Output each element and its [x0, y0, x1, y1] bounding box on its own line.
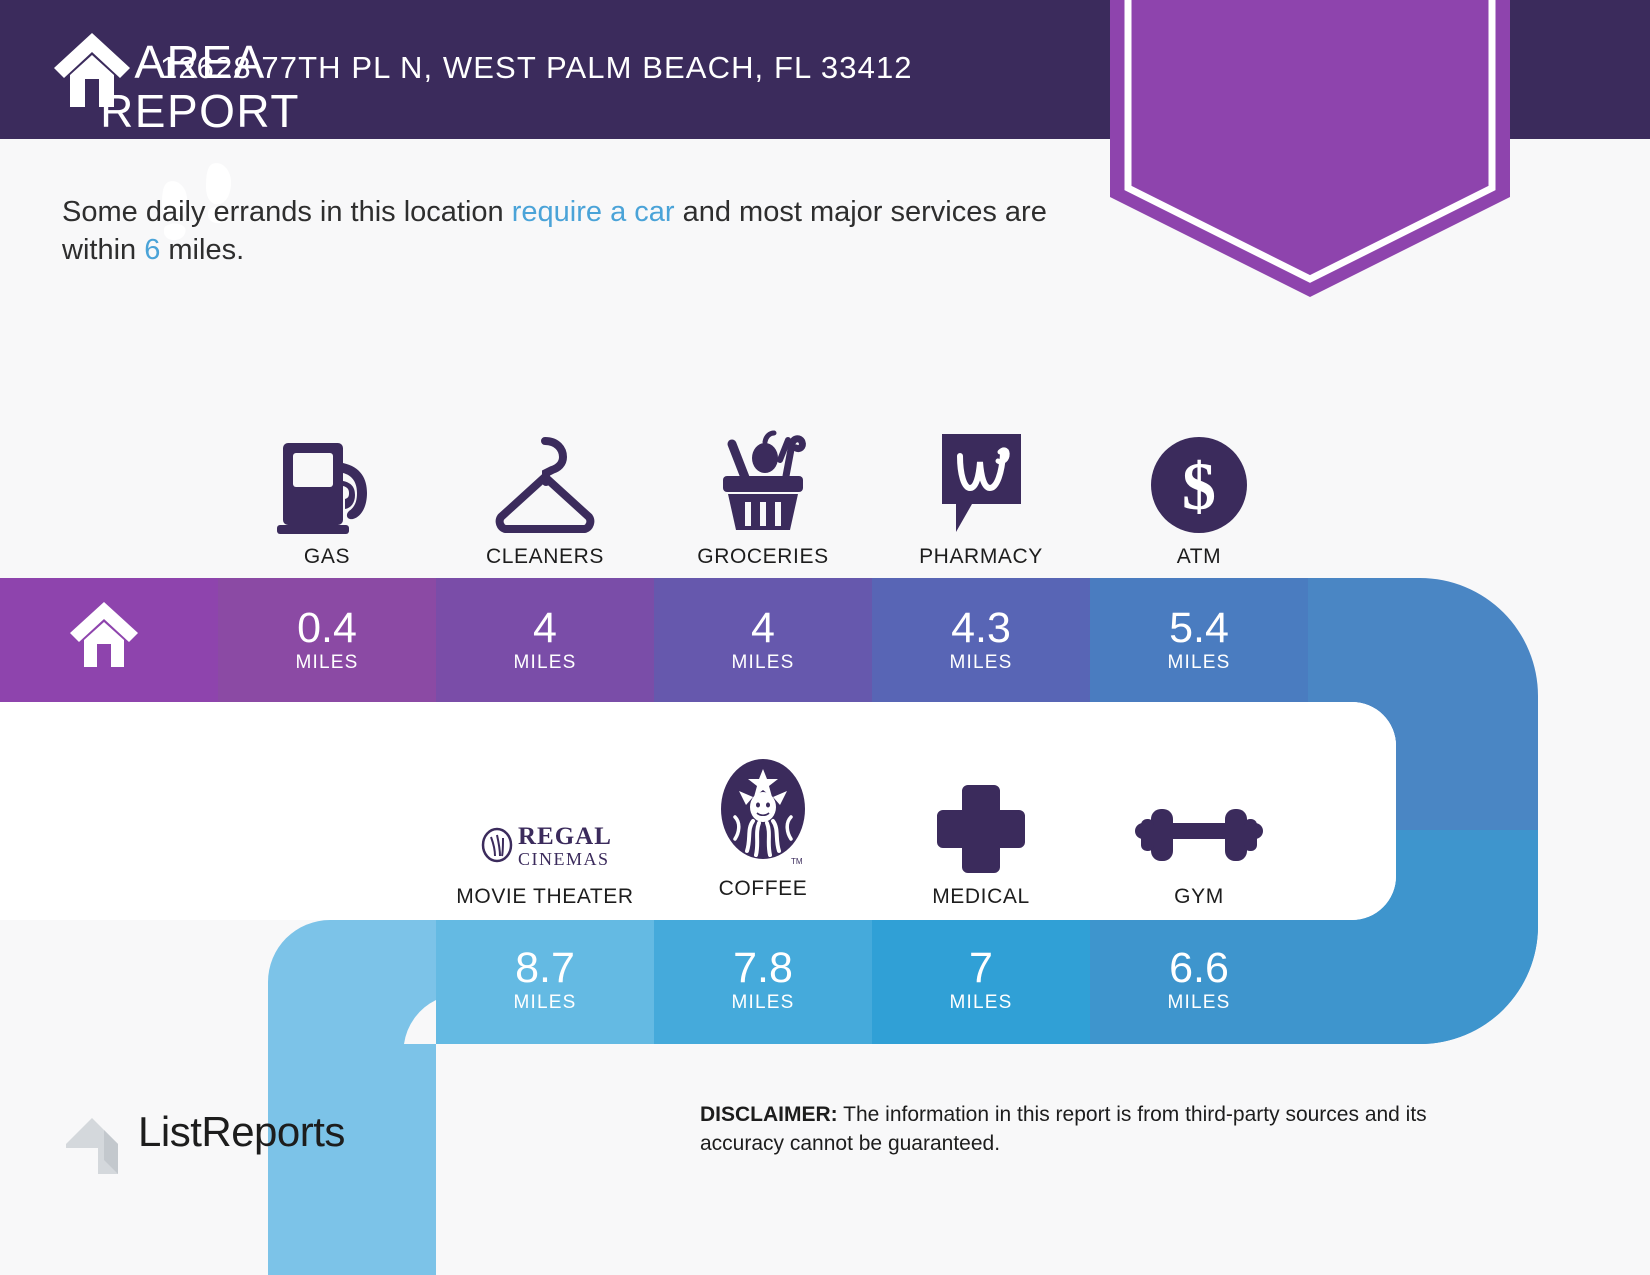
starbucks-icon: TM	[654, 752, 872, 867]
value-number: 4	[654, 605, 872, 651]
value-number: 4.3	[872, 605, 1090, 651]
value-unit: MILES	[436, 992, 654, 1014]
gas-pump-icon	[218, 420, 436, 535]
value-number: 7.8	[654, 945, 872, 991]
value-cell-pharmacy: 4.3 MILES	[872, 605, 1090, 674]
value-unit: MILES	[872, 992, 1090, 1014]
value-cell-gym: 6.6 MILES	[1090, 945, 1308, 1014]
icon-label: MOVIE THEATER	[436, 885, 654, 909]
value-number: 4	[436, 605, 654, 651]
value-number: 7	[872, 945, 1090, 991]
value-cell-medical: 7 MILES	[872, 945, 1090, 1014]
value-unit: MILES	[654, 652, 872, 674]
value-number: 0.4	[218, 605, 436, 651]
value-number: 5.4	[1090, 605, 1308, 651]
icon-cell-groceries: GROCERIES	[654, 420, 872, 569]
medical-cross-icon	[872, 760, 1090, 875]
value-number: 8.7	[436, 945, 654, 991]
value-cell-coffee: 7.8 MILES	[654, 945, 872, 1014]
value-cell-atm: 5.4 MILES	[1090, 605, 1308, 674]
value-unit: MILES	[1090, 992, 1308, 1014]
listreports-wordmark: ListReports	[138, 1108, 345, 1156]
value-unit: MILES	[1090, 652, 1308, 674]
icon-cell-gym: GYM	[1090, 760, 1308, 909]
icon-cell-gas: GAS	[218, 420, 436, 569]
home-icon	[68, 600, 140, 668]
dollar-icon: $	[1090, 420, 1308, 535]
icon-label: MEDICAL	[872, 885, 1090, 909]
svg-text:$: $	[1182, 448, 1216, 524]
icon-label: COFFEE	[654, 877, 872, 901]
dumbbell-icon	[1090, 760, 1308, 875]
value-cell-gas: 0.4 MILES	[218, 605, 436, 674]
icon-label: ATM	[1090, 545, 1308, 569]
icon-label: GAS	[218, 545, 436, 569]
value-cell-groceries: 4 MILES	[654, 605, 872, 674]
value-number: 6.6	[1090, 945, 1308, 991]
value-cell-movie-theater: 8.7 MILES	[436, 945, 654, 1014]
icon-cell-pharmacy: PHARMACY	[872, 420, 1090, 569]
basket-icon	[654, 420, 872, 535]
hanger-icon	[436, 420, 654, 535]
svg-text:TM: TM	[791, 857, 803, 866]
icon-label: GROCERIES	[654, 545, 872, 569]
value-unit: MILES	[654, 992, 872, 1014]
value-unit: MILES	[218, 652, 436, 674]
disclaimer: DISCLAIMER: The information in this repo…	[700, 1100, 1500, 1158]
svg-text:CINEMAS: CINEMAS	[518, 849, 610, 869]
icon-cell-movie-theater: REGAL CINEMAS MOVIE THEATER	[436, 760, 654, 909]
icon-cell-coffee: TM COFFEE	[654, 752, 872, 901]
icon-label: GYM	[1090, 885, 1308, 909]
icon-cell-cleaners: CLEANERS	[436, 420, 654, 569]
icon-cell-medical: MEDICAL	[872, 760, 1090, 909]
disclaimer-label: DISCLAIMER:	[700, 1103, 838, 1126]
icon-label: PHARMACY	[872, 545, 1090, 569]
icon-label: CLEANERS	[436, 545, 654, 569]
value-cell-cleaners: 4 MILES	[436, 605, 654, 674]
regal-cinemas-icon: REGAL CINEMAS	[436, 760, 654, 875]
value-unit: MILES	[436, 652, 654, 674]
svg-text:REGAL: REGAL	[518, 823, 610, 850]
walgreens-icon	[872, 420, 1090, 535]
value-unit: MILES	[872, 652, 1090, 674]
icon-cell-atm: $ ATM	[1090, 420, 1308, 569]
